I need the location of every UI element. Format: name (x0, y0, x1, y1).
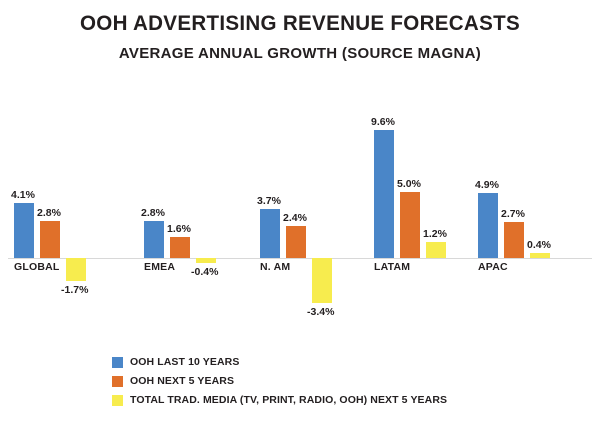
bars (14, 108, 124, 258)
bars (144, 108, 254, 258)
bar (530, 253, 550, 258)
legend-item: OOH LAST 10 YEARS (112, 356, 532, 368)
bar-value-label: 4.1% (11, 189, 35, 201)
bar (504, 222, 524, 258)
bar (374, 130, 394, 258)
bar-group-apac: 4.9%2.7%0.4%APAC (478, 108, 588, 328)
bar (312, 258, 332, 303)
page-subtitle: AVERAGE ANNUAL GROWTH (SOURCE MAGNA) (0, 45, 600, 62)
bar-value-label: 2.8% (37, 207, 61, 219)
bar-value-label: -1.7% (61, 284, 88, 296)
bar (14, 203, 34, 258)
bar-value-label: 1.6% (167, 223, 191, 235)
category-label: N. AM (260, 261, 290, 273)
bar-group-n-am: 3.7%2.4%-3.4%N. AM (260, 108, 370, 328)
legend-swatch-icon (112, 376, 123, 387)
bar-value-label: 2.4% (283, 212, 307, 224)
category-label: EMEA (144, 261, 175, 273)
bar (144, 221, 164, 258)
bar-group-emea: 2.8%1.6%-0.4%EMEA (144, 108, 254, 328)
bar (196, 258, 216, 263)
bars (260, 108, 370, 258)
bar-value-label: -3.4% (307, 306, 334, 318)
bar (260, 209, 280, 258)
bar (66, 258, 86, 281)
bar-value-label: -0.4% (191, 266, 218, 278)
bar-group-latam: 9.6%5.0%1.2%LATAM (374, 108, 484, 328)
bar-value-label: 2.8% (141, 207, 165, 219)
chart-legend: OOH LAST 10 YEARSOOH NEXT 5 YEARSTOTAL T… (112, 356, 532, 413)
legend-item: TOTAL TRAD. MEDIA (TV, PRINT, RADIO, OOH… (112, 394, 532, 406)
bar (478, 193, 498, 258)
legend-swatch-icon (112, 395, 123, 406)
category-label: APAC (478, 261, 508, 273)
bar (170, 237, 190, 258)
category-label: LATAM (374, 261, 410, 273)
legend-label: OOH NEXT 5 YEARS (130, 375, 234, 387)
bar-value-label: 1.2% (423, 228, 447, 240)
bar-value-label: 5.0% (397, 178, 421, 190)
chart-plot-area: 4.1%2.8%-1.7%GLOBAL2.8%1.6%-0.4%EMEA3.7%… (0, 108, 600, 328)
category-label: GLOBAL (14, 261, 60, 273)
legend-label: OOH LAST 10 YEARS (130, 356, 239, 368)
page-title: OOH ADVERTISING REVENUE FORECASTS (6, 12, 594, 36)
legend-swatch-icon (112, 357, 123, 368)
bar (286, 226, 306, 258)
legend-label: TOTAL TRAD. MEDIA (TV, PRINT, RADIO, OOH… (130, 394, 447, 406)
bar (426, 242, 446, 258)
bar (400, 192, 420, 259)
legend-item: OOH NEXT 5 YEARS (112, 375, 532, 387)
bar-value-label: 2.7% (501, 208, 525, 220)
bar-value-label: 3.7% (257, 195, 281, 207)
chart-page: OOH ADVERTISING REVENUE FORECASTS AVERAG… (0, 12, 600, 431)
bar-value-label: 9.6% (371, 116, 395, 128)
bar-value-label: 0.4% (527, 239, 551, 251)
bar-value-label: 4.9% (475, 179, 499, 191)
bar (40, 221, 60, 258)
bar-group-global: 4.1%2.8%-1.7%GLOBAL (14, 108, 124, 328)
